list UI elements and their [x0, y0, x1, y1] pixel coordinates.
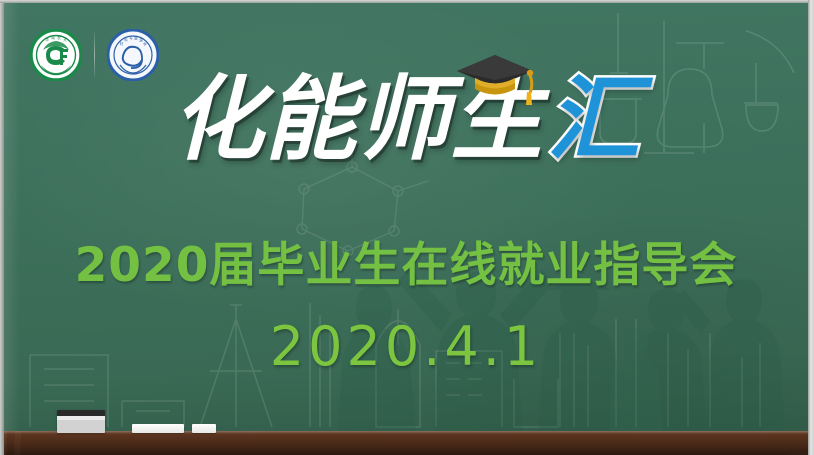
tray-lip: [4, 431, 808, 434]
chalk-stick-1: [132, 424, 184, 433]
chalkboard-surface: 华南 农大 材料 与能 源学: [4, 3, 808, 455]
svg-text:华: 华: [45, 37, 49, 42]
main-title: 化能师生汇: [4, 61, 808, 181]
subtitle: 2020届毕业生在线就业指导会: [4, 237, 808, 295]
chalk-stick-2: [192, 424, 216, 433]
frame-left-edge: [0, 0, 4, 455]
poster-slide: 华南 农大 材料 与能 源学: [0, 0, 814, 455]
svg-text:南: 南: [51, 35, 55, 40]
main-title-white-text: 化能师生: [171, 66, 543, 173]
svg-text:大: 大: [63, 37, 67, 42]
chalk-tray: [4, 431, 808, 455]
main-title-blue-text: 汇: [548, 66, 641, 173]
event-date: 2020.4.1: [4, 315, 808, 379]
blackboard-eraser-icon: [57, 410, 105, 433]
frame-right-edge: [808, 0, 814, 455]
svg-text:农: 农: [57, 35, 61, 40]
frame-top-edge: [0, 0, 814, 3]
